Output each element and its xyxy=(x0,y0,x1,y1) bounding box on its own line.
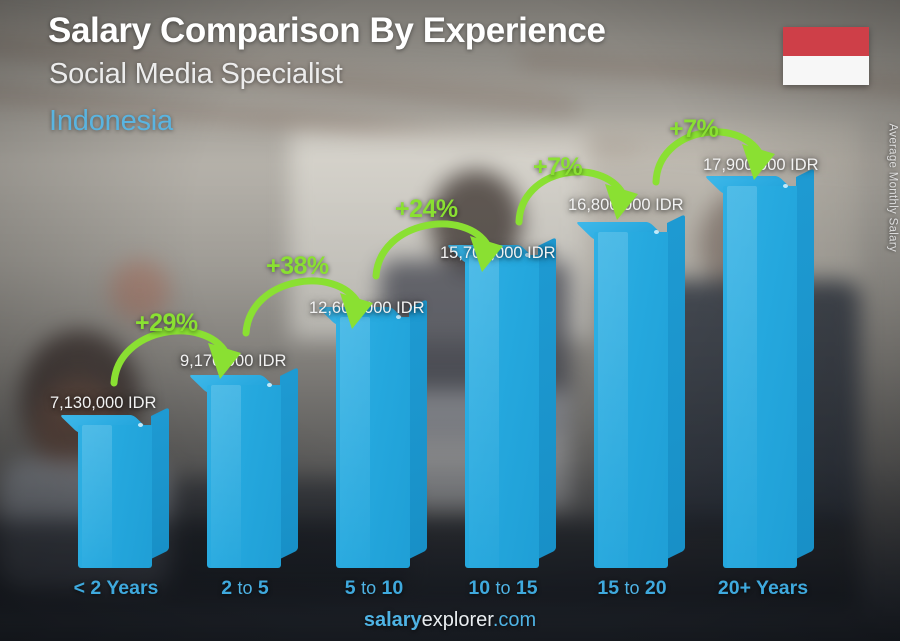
x-label-text: 20+ Years xyxy=(718,577,808,599)
x-label-until: 20 xyxy=(645,577,667,599)
bar-side-face xyxy=(409,299,427,559)
bar-front-face xyxy=(465,255,539,568)
x-label-2: 5 to 10 xyxy=(316,577,432,600)
infographic-canvas: Salary Comparison By Experience Social M… xyxy=(0,0,900,641)
bar-front-face xyxy=(594,232,668,568)
x-label-from: 10 xyxy=(468,577,490,599)
value-label-0: 7,130,000 IDR xyxy=(50,394,156,413)
x-label-from: 2 xyxy=(221,577,232,599)
bar-highlight xyxy=(783,184,788,188)
x-label-from: 15 xyxy=(597,577,619,599)
x-label-5: 20+ Years xyxy=(703,577,823,600)
bar-highlight xyxy=(138,423,143,427)
bar-front-face xyxy=(723,186,797,568)
bar-1 xyxy=(207,385,281,568)
growth-pct-3: +7% xyxy=(533,153,582,182)
bar-2 xyxy=(336,317,410,568)
x-label-until: 5 xyxy=(258,577,269,599)
x-label-to: to xyxy=(237,578,252,598)
brand-part-explorer: explorer xyxy=(422,609,493,631)
x-label-from: 5 xyxy=(345,577,356,599)
bar-front-face xyxy=(78,425,152,568)
bar-front-face xyxy=(336,317,410,568)
bar-5 xyxy=(723,186,797,568)
x-label-4: 15 to 20 xyxy=(574,577,690,600)
x-label-text: < 2 Years xyxy=(74,577,159,599)
brand-part-salary: salary xyxy=(364,609,422,631)
x-label-0: < 2 Years xyxy=(58,577,174,600)
growth-pct-4: +7% xyxy=(669,115,718,144)
brand-part-tld: .com xyxy=(493,609,536,631)
x-label-until: 10 xyxy=(382,577,404,599)
bar-highlight xyxy=(267,383,272,387)
x-label-until: 15 xyxy=(516,577,538,599)
bar-front-face xyxy=(207,385,281,568)
bar-highlight xyxy=(654,230,659,234)
x-label-to: to xyxy=(361,578,376,598)
growth-pct-2: +24% xyxy=(395,195,458,224)
bar-0 xyxy=(78,425,152,568)
bar-side-face xyxy=(796,168,814,559)
bar-side-face xyxy=(151,407,169,559)
bar-side-face xyxy=(667,214,685,559)
bar-4 xyxy=(594,232,668,568)
x-label-3: 10 to 15 xyxy=(445,577,561,600)
x-label-to: to xyxy=(495,578,510,598)
footer-brand[interactable]: salaryexplorer.com xyxy=(0,609,900,632)
bar-3 xyxy=(465,255,539,568)
growth-pct-0: +29% xyxy=(135,309,198,338)
bar-side-face xyxy=(538,237,556,559)
x-label-to: to xyxy=(624,578,639,598)
x-label-1: 2 to 5 xyxy=(187,577,303,600)
growth-pct-1: +38% xyxy=(266,252,329,281)
bar-side-face xyxy=(280,367,298,559)
